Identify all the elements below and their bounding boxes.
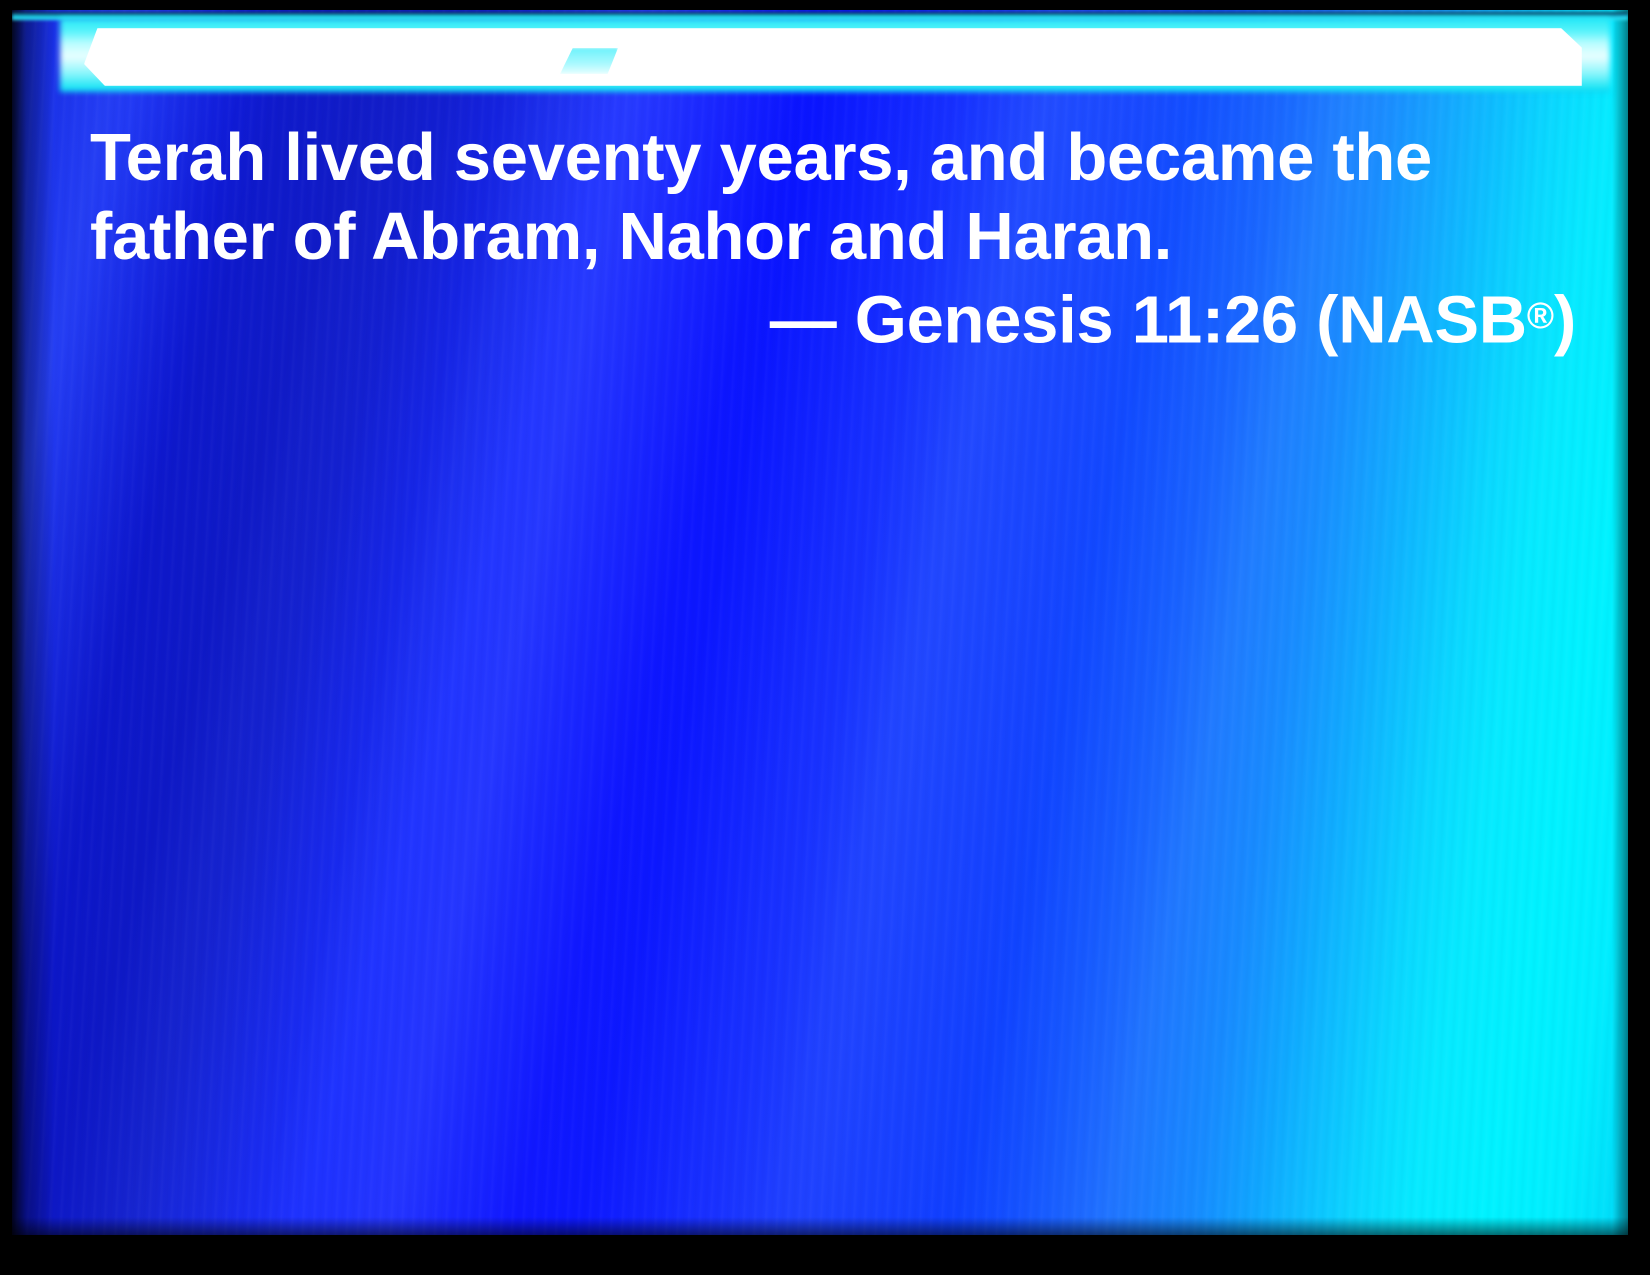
citation-suffix: ) [1554,283,1576,358]
verse-text-block: Terah lived seventy years, and became th… [90,118,1578,360]
citation-prefix: — Genesis 11:26 (NASB [770,283,1527,358]
verse-line-2: father of Abram, Nahor and Haran. [90,197,1578,276]
verse-citation: — Genesis 11:26 (NASB®) [90,276,1578,360]
slide-frame: Terah lived seventy years, and became th… [0,0,1650,1275]
registered-trademark-icon: ® [1527,295,1554,336]
verse-line-1: Terah lived seventy years, and became th… [90,118,1578,197]
slide-canvas: Terah lived seventy years, and became th… [12,10,1628,1235]
